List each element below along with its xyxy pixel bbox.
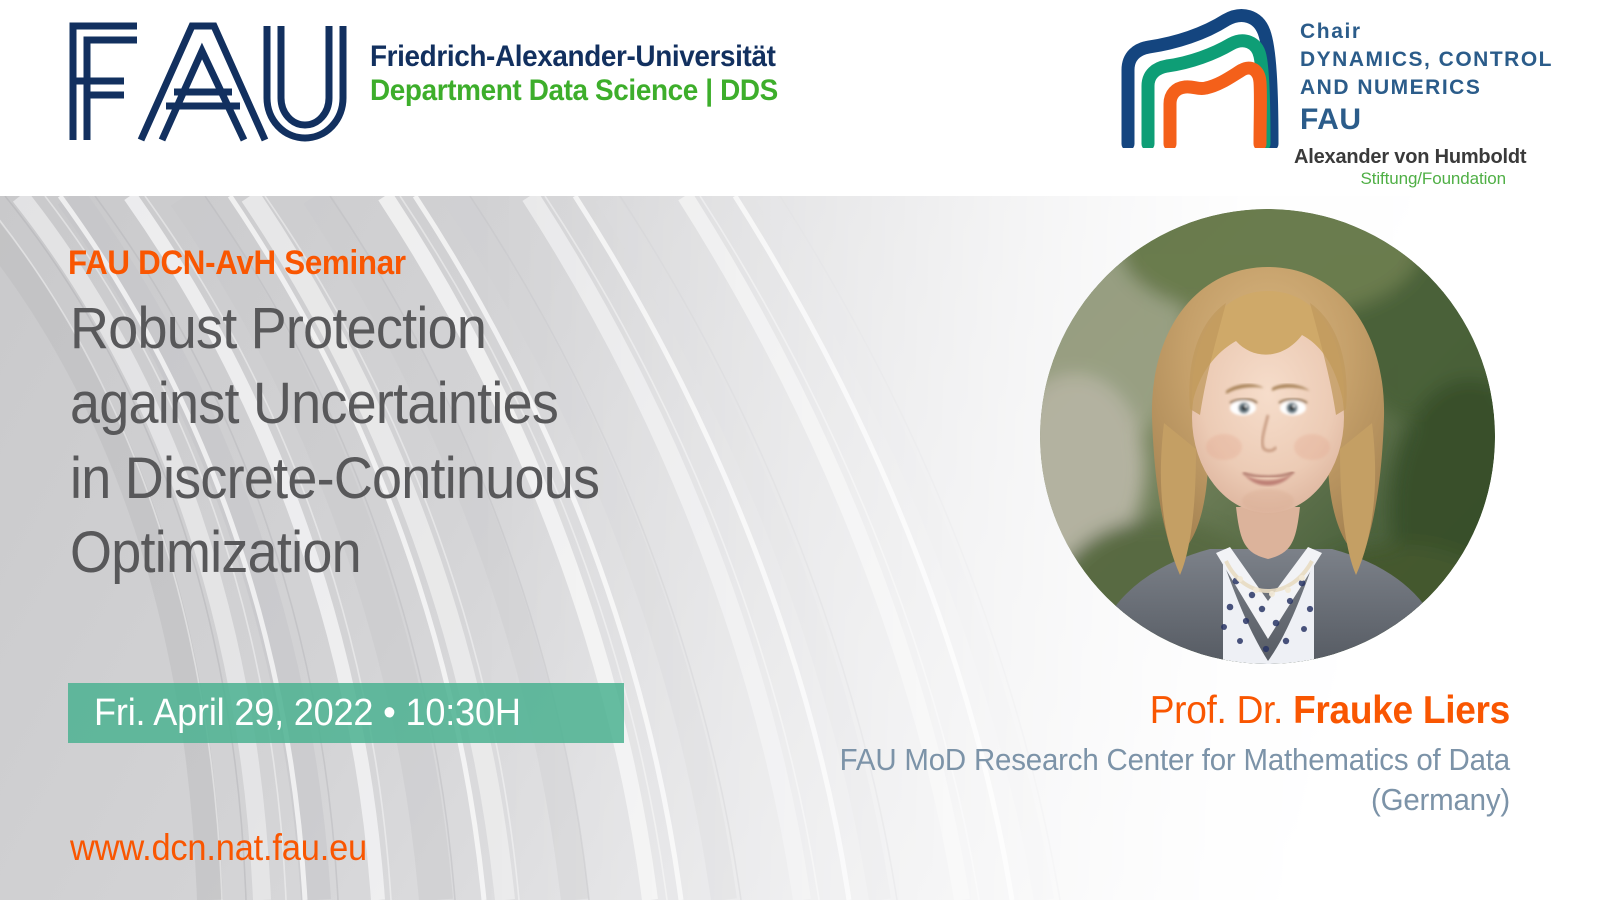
- speaker-portrait: [1040, 209, 1495, 664]
- speaker-affiliation: FAU MoD Research Center for Mathematics …: [646, 740, 1511, 819]
- website-url[interactable]: www.dcn.nat.fau.eu: [70, 827, 367, 869]
- affiliation-line: (Germany): [646, 780, 1511, 820]
- humboldt-name: Alexander von Humboldt: [1294, 146, 1506, 169]
- fau-university-name: Friedrich-Alexander-Universität: [370, 40, 778, 74]
- header-band: Friedrich-Alexander-Universität Departme…: [0, 0, 1600, 196]
- affiliation-line: FAU MoD Research Center for Mathematics …: [646, 740, 1511, 780]
- title-line: in Discrete-Continuous: [70, 442, 888, 517]
- seminar-kicker: FAU DCN-AvH Seminar: [68, 244, 406, 283]
- date-time-badge: Fri. April 29, 2022 • 10:30H: [68, 683, 624, 743]
- speaker-info: Prof. Dr. Frauke Liers FAU MoD Research …: [600, 688, 1510, 819]
- dcn-chair-label: Chair: [1300, 18, 1553, 46]
- speaker-title-prefix: Prof. Dr.: [1150, 689, 1293, 732]
- humboldt-foundation-logo: Alexander von Humboldt Stiftung/Foundati…: [1294, 146, 1506, 189]
- speaker-name-line: Prof. Dr. Frauke Liers: [646, 688, 1511, 734]
- fau-logo: Friedrich-Alexander-Universität Departme…: [62, 18, 809, 144]
- dcn-title-line-1: DYNAMICS, CONTROL: [1300, 46, 1553, 74]
- title-line: Optimization: [70, 516, 888, 591]
- fau-department-name: Department Data Science | DDS: [370, 74, 778, 108]
- date-time-text: Fri. April 29, 2022 • 10:30H: [94, 692, 521, 735]
- speaker-portrait-photo: [1040, 209, 1495, 664]
- title-line: Robust Protection: [70, 292, 888, 367]
- dcn-avh-logo: Chair DYNAMICS, CONTROL AND NUMERICS FAU: [1118, 8, 1553, 148]
- dcn-title-line-2: AND NUMERICS: [1300, 74, 1553, 102]
- dcn-nested-arch-logo-icon: [1118, 8, 1290, 148]
- title-line: against Uncertainties: [70, 367, 888, 442]
- humboldt-subtitle: Stiftung/Foundation: [1294, 169, 1506, 189]
- fau-outline-wordmark-icon: [62, 18, 352, 144]
- talk-title: Robust Protection against Uncertainties …: [70, 292, 888, 591]
- speaker-name: Frauke Liers: [1293, 689, 1510, 732]
- dcn-fau-label: FAU: [1300, 102, 1553, 137]
